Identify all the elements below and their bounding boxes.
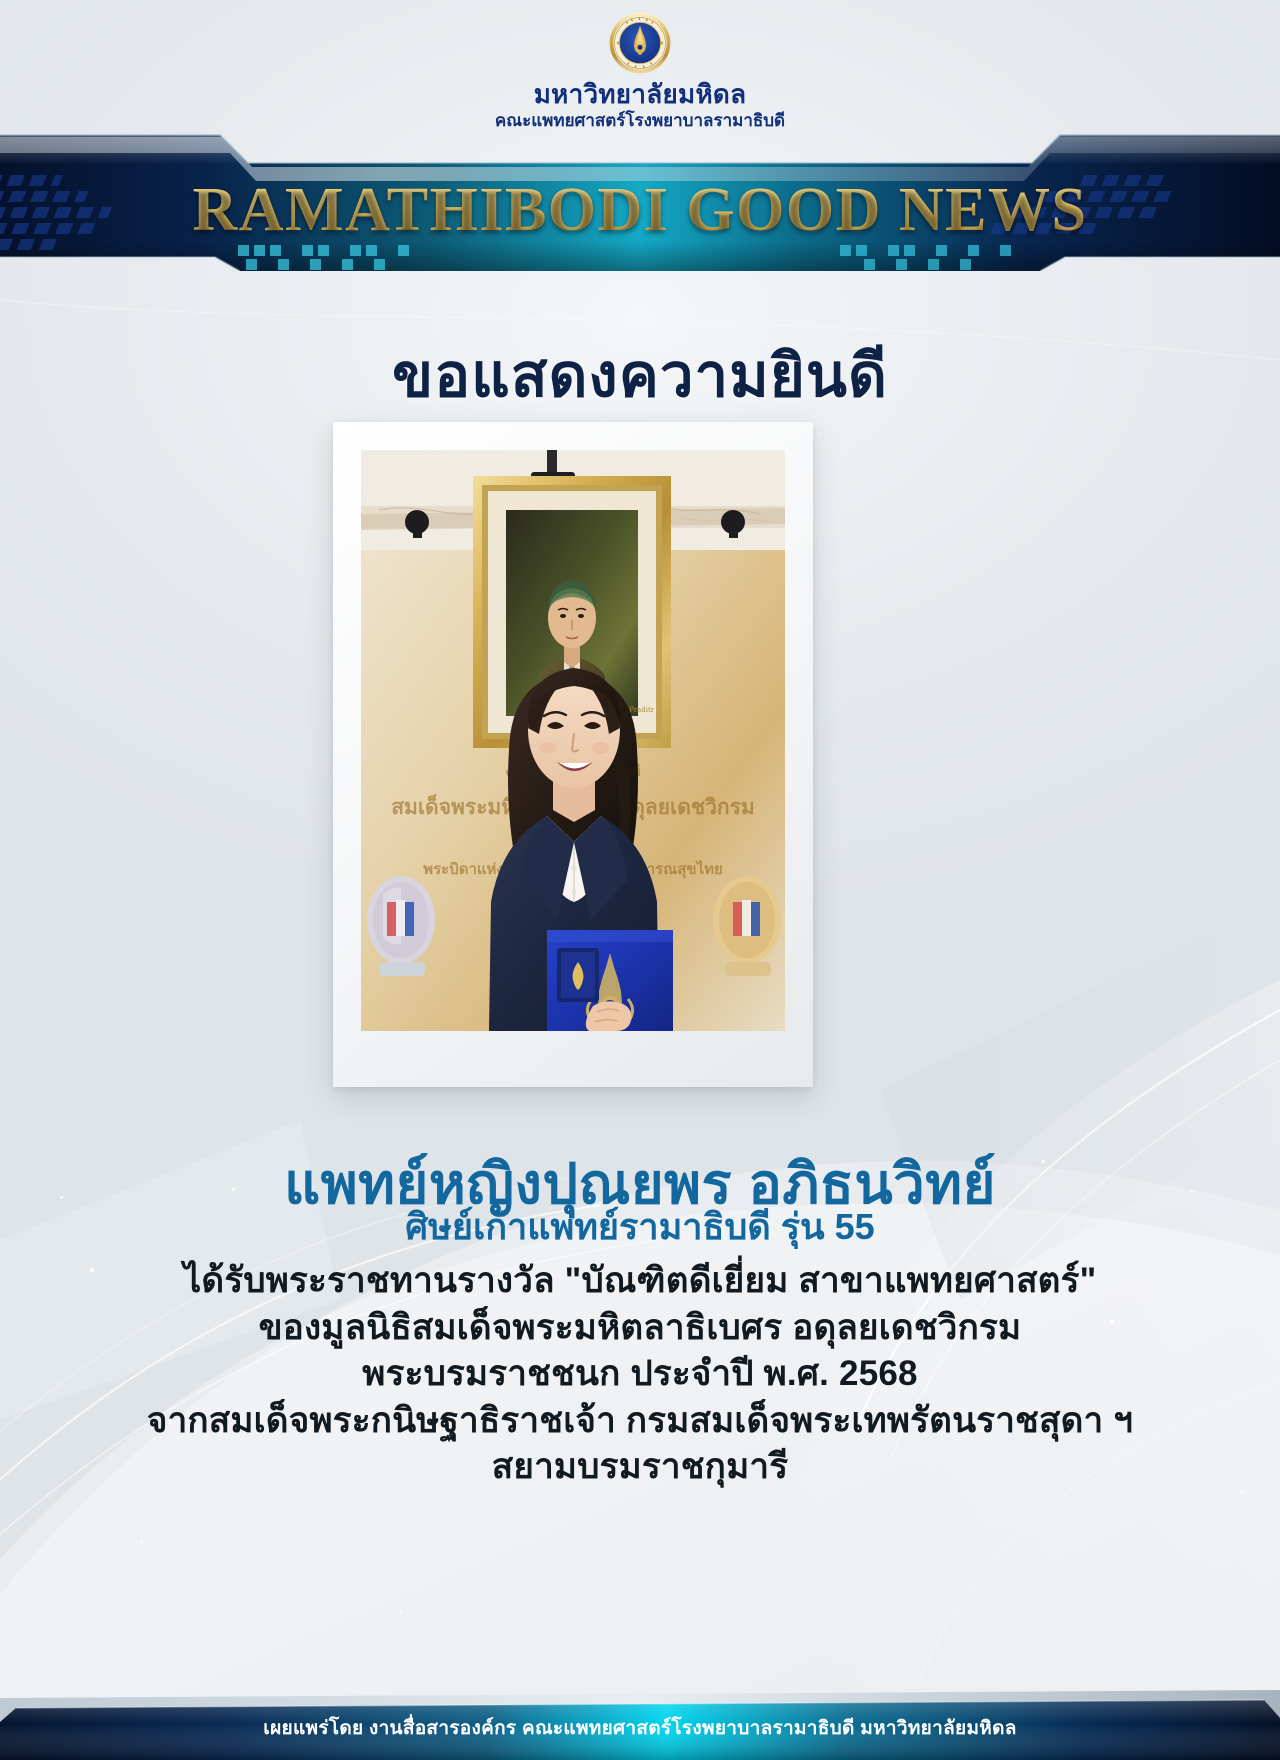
award-line: พระบรมราชชนก ประจำปี พ.ศ. 2568 [0, 1351, 1280, 1398]
award-line: ของมูลนิธิสมเด็จพระมหิตลาธิเบศร อดุลยเดช… [0, 1305, 1280, 1352]
honoree-subtitle: ศิษย์เก่าแพทย์รามาธิบดี รุ่น 55 [0, 1198, 1280, 1255]
banner: RAMATHIBODI GOOD NEWS [0, 123, 1280, 271]
photo-frame: Praditr งานเฉลิมพระเกียรติ สมเด็จพระมหิต… [333, 422, 813, 1087]
banner-title: RAMATHIBODI GOOD NEWS [0, 123, 1280, 271]
university-name: มหาวิทยาลัยมหิดล [534, 80, 747, 109]
footer-bar: เผยแพร่โดย งานสื่อสารองค์กร คณะแพทยศาสตร… [0, 1678, 1280, 1760]
honoree-photo: Praditr งานเฉลิมพระเกียรติ สมเด็จพระมหิต… [361, 450, 785, 1031]
page-header: มหาวิทยาลัยมหิดล คณะแพทยศาสตร์โรงพยาบาลร… [0, 0, 1280, 140]
mahidol-seal-icon [609, 12, 671, 74]
congratulations-heading: ขอแสดงความยินดี [0, 328, 1280, 423]
svg-text:Praditr: Praditr [629, 706, 655, 714]
award-line: สยามบรมราชกุมารี [0, 1444, 1280, 1491]
footer-credit: เผยแพร่โดย งานสื่อสารองค์กร คณะแพทยศาสตร… [0, 1678, 1280, 1760]
faculty-name: คณะแพทยศาสตร์โรงพยาบาลรามาธิบดี [495, 112, 785, 131]
award-description: ได้รับพระราชทานรางวัล "บัณฑิตดีเยี่ยม สา… [0, 1258, 1280, 1491]
award-line: ได้รับพระราชทานรางวัล "บัณฑิตดีเยี่ยม สา… [0, 1258, 1280, 1305]
award-line: จากสมเด็จพระกนิษฐาธิราชเจ้า กรมสมเด็จพระ… [0, 1398, 1280, 1445]
